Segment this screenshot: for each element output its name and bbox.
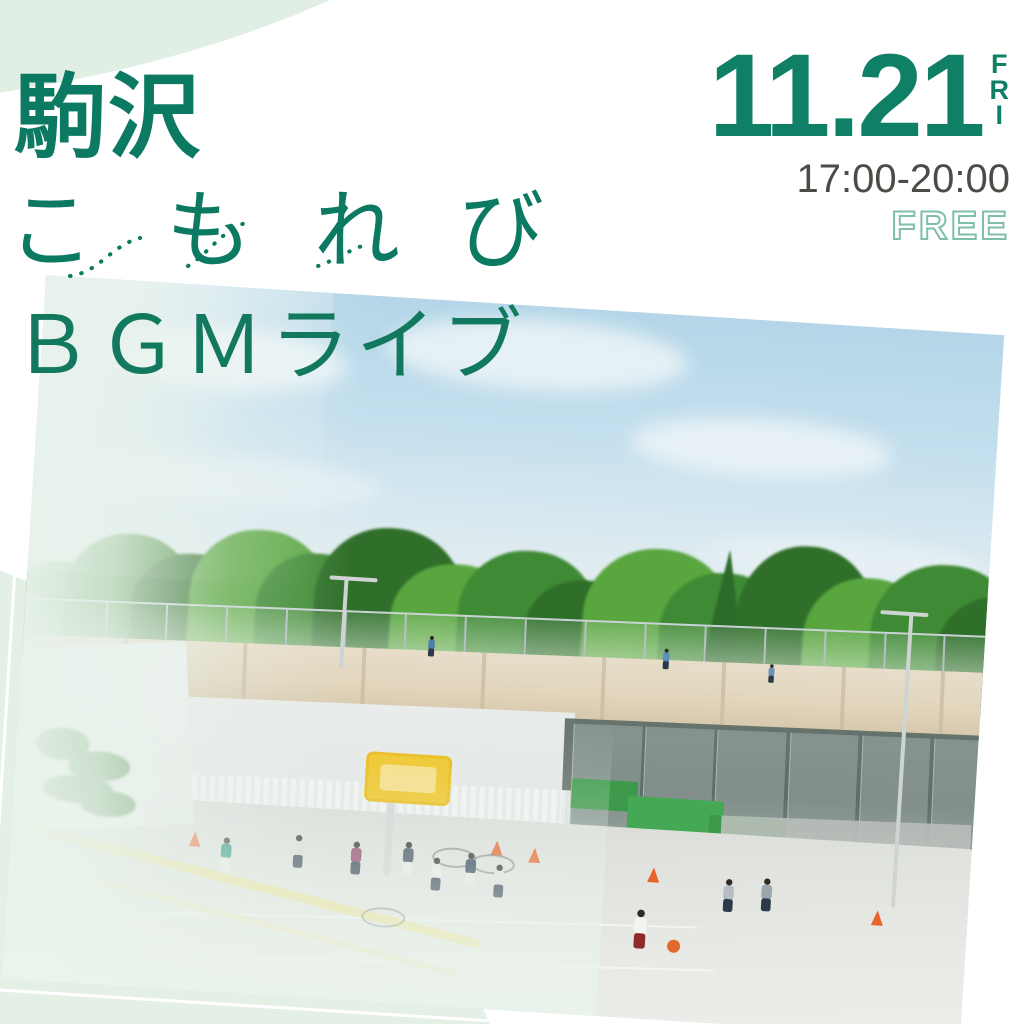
day-of-week-vertical: F R I: [990, 52, 1011, 129]
date-block: 11.21 F R I 17:00-20:00 FREE: [709, 42, 1010, 249]
kana-mo: も: [166, 188, 252, 274]
date-number: 11.21: [709, 42, 983, 151]
price-free-label: FREE: [709, 204, 1010, 249]
poster-canvas: 駒沢 こもれび ＢＧＭライブ 11.21 F R I 17:00-20:00 F…: [0, 0, 1024, 1024]
headline-line-2: こもれび: [8, 188, 544, 274]
kana-re: れ: [314, 188, 400, 274]
dow-letter-i: I: [990, 103, 1011, 129]
photo-fade-bottom: [2, 683, 615, 1016]
kana-bi: び: [458, 188, 544, 274]
headline-line-1: 駒沢: [14, 72, 202, 164]
headline-block: 駒沢: [14, 72, 202, 164]
headline-line-3: ＢＧＭライブ: [12, 306, 528, 386]
dow-letter-f: F: [990, 52, 1011, 78]
traffic-cone: [647, 867, 660, 883]
traffic-cone: [871, 910, 884, 926]
time-range: 17:00-20:00: [709, 157, 1010, 202]
date-row: 11.21 F R I: [709, 42, 1010, 151]
kana-ko: こ: [8, 188, 94, 274]
